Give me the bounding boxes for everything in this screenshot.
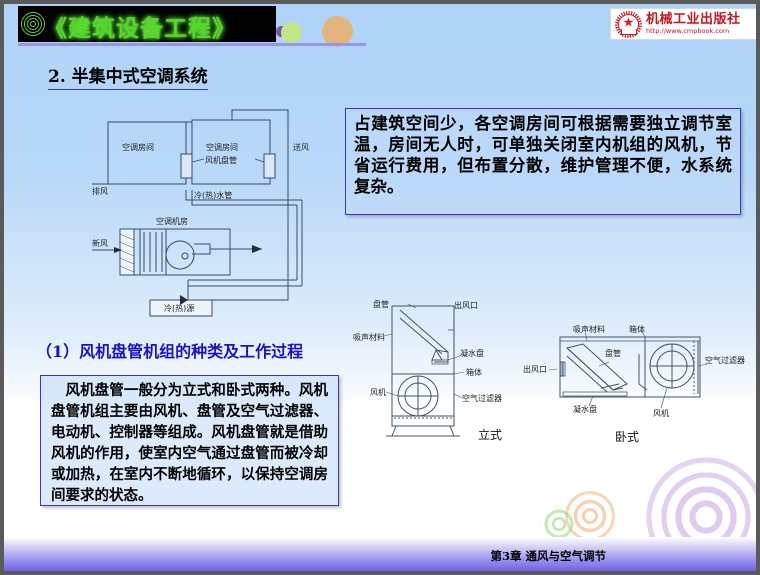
label-hu-sound-material: 吸声材料 [573, 324, 605, 335]
label-supply-air: 送风 [293, 142, 309, 153]
sub-heading: （1）风机盘管机组的种类及工作过程 [36, 338, 303, 362]
publisher-url: http://www.cmpbook.com [646, 27, 741, 36]
system-schematic: 空调房间 空调房间 送风 风机盘管 排风 冷(热)水管 空调机房 新风 冷(热)… [92, 104, 342, 322]
vertical-unit-svg [356, 304, 536, 454]
label-ahu-room: 空调机房 [156, 216, 188, 227]
horizontal-unit-diagram: 吸声材料 箱体 盘管 空气过滤器 出风口 凝水盘 风机 卧式 [527, 304, 757, 454]
label-hu-outlet: 出风口 [523, 364, 547, 375]
slide-canvas: 《建筑设备工程》 ★ 机械工业出版社 http://www.cmpbook.co… [0, 0, 760, 575]
publisher-seal-icon: ★ [615, 11, 642, 38]
label-fan-coil: 风机盘管 [205, 155, 237, 166]
label-hu-coil: 盘管 [605, 348, 621, 359]
label-water-pipe: 冷(热)水管 [194, 190, 232, 201]
vertical-unit-diagram: 盘管 出风口 吸声材料 凝水盘 箱体 风机 空气过滤器 立式 [356, 304, 536, 454]
banner-rule [18, 43, 366, 46]
label-room-right: 空调房间 [206, 142, 238, 153]
system-schematic-svg [92, 104, 342, 322]
label-hu-casing: 箱体 [629, 324, 645, 335]
publisher-logo: ★ 机械工业出版社 http://www.cmpbook.com [610, 8, 758, 40]
label-source: 冷(热)源 [164, 303, 194, 314]
book-icon [621, 29, 637, 35]
section-heading: 2. 半集中式空调系统 [48, 62, 208, 90]
label-vu-fan: 风机 [370, 387, 386, 398]
footer-chapter-label: 第3章 通风与空气调节 [490, 548, 606, 564]
label-hu-air-filter: 空气过滤器 [705, 355, 745, 366]
callout-left-text: 风机盘管一般分为立式和卧式两种。风机盘管机组主要由风机、盘管及空气过滤器、电动机… [51, 380, 328, 506]
label-vu-drain-pan: 凝水盘 [460, 348, 484, 359]
label-exhaust-air: 排风 [92, 186, 108, 197]
callout-box-right: 占建筑空间少，各空调房间可根据需要独立调节室温，房间无人时，可单独关闭室内机组的… [345, 108, 741, 215]
course-title: 《建筑设备工程》 [44, 9, 274, 39]
spiral-logo-icon [20, 11, 46, 37]
label-fresh-air: 新风 [92, 238, 108, 249]
caption-vertical-unit: 立式 [478, 426, 502, 443]
decor-dot-green-icon [281, 22, 302, 43]
caption-horizontal-unit: 卧式 [615, 428, 639, 445]
label-hu-fan: 风机 [653, 408, 669, 419]
label-vu-coil: 盘管 [373, 299, 389, 310]
label-vu-outlet: 出风口 [454, 300, 478, 311]
label-vu-casing: 箱体 [466, 367, 482, 378]
label-room-left: 空调房间 [122, 142, 154, 153]
label-hu-drain-pan: 凝水盘 [573, 404, 597, 415]
label-vu-sound-material: 吸声材料 [353, 332, 385, 343]
footer-bar: 第3章 通风与空气调节 [4, 537, 756, 571]
top-banner: 《建筑设备工程》 ★ 机械工业出版社 http://www.cmpbook.co… [4, 4, 760, 46]
label-vu-air-filter: 空气过滤器 [462, 393, 502, 404]
callout-box-left: 风机盘管一般分为立式和卧式两种。风机盘管机组主要由风机、盘管及空气过滤器、电动机… [40, 375, 339, 506]
star-icon: ★ [623, 16, 635, 29]
publisher-name: 机械工业出版社 [646, 13, 741, 27]
callout-right-text: 占建筑空间少，各空调房间可根据需要独立调节室温，房间无人时，可单独关闭室内机组的… [354, 113, 732, 197]
